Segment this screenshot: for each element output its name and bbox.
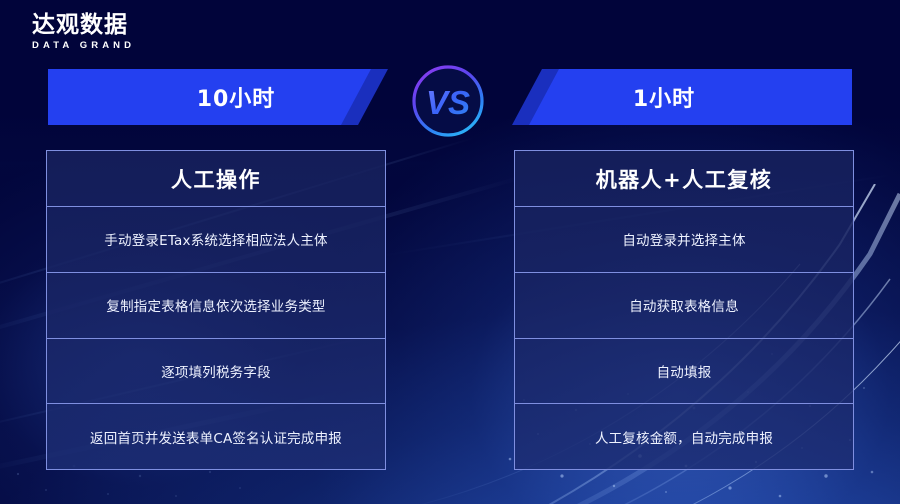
slide-canvas: 达观数据 DATA GRAND 10小时 1小时	[0, 0, 900, 504]
banner-left: 10小时	[48, 69, 388, 125]
card-right-step: 自动获取表格信息	[515, 273, 853, 339]
comparison-card-right: 机器人+人工复核 自动登录并选择主体 自动获取表格信息 自动填报 人工复核金额，…	[514, 150, 854, 470]
banner-right-label: 1小时	[633, 81, 695, 113]
banner-right: 1小时	[512, 69, 852, 125]
vs-badge-label: VS	[426, 84, 470, 121]
card-right-step: 自动填报	[515, 339, 853, 405]
banner-left-label: 10小时	[197, 81, 276, 113]
vs-badge-icon: VS	[409, 62, 487, 140]
card-left-title: 人工操作	[47, 151, 385, 207]
card-left-step: 返回首页并发送表单CA签名认证完成申报	[47, 404, 385, 469]
brand-name-en: DATA GRAND	[32, 39, 135, 53]
card-right-title: 机器人+人工复核	[515, 151, 853, 207]
card-left-step: 手动登录ETax系统选择相应法人主体	[47, 207, 385, 273]
card-left-step: 复制指定表格信息依次选择业务类型	[47, 273, 385, 339]
card-right-step: 自动登录并选择主体	[515, 207, 853, 273]
brand-name-cn: 达观数据	[32, 12, 135, 38]
card-right-step: 人工复核金额，自动完成申报	[515, 404, 853, 469]
card-left-step: 逐项填列税务字段	[47, 339, 385, 405]
brand-logo: 达观数据 DATA GRAND	[32, 12, 135, 53]
comparison-card-left: 人工操作 手动登录ETax系统选择相应法人主体 复制指定表格信息依次选择业务类型…	[46, 150, 386, 470]
